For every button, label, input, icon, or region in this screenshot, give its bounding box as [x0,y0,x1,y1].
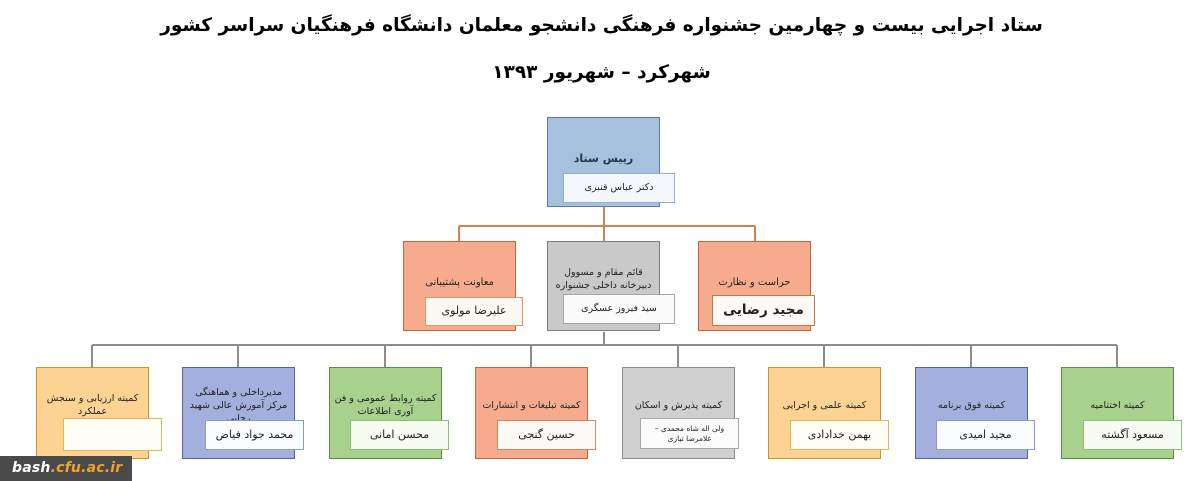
name-box-modir-dakheli[interactable]: محمد جواد فیاض [205,420,304,450]
node-title: قائم مقام و مسوول دبیرخانه داخلی جشنواره [552,267,655,293]
node-title: معاونت پشتیبانی [408,276,511,290]
node-title: کمیته پذیرش و اسکان [627,400,730,413]
node-title: کمیته ارزیابی و سنجش عملکرد [41,393,144,419]
person-name: محمد جواد فیاض [216,428,294,442]
name-box-ghaem-magham[interactable]: سید فیروز عسگری [563,294,675,324]
watermark-prefix: bash [12,460,51,476]
person-name: محسن امانی [370,428,429,442]
site-watermark: bash.cfu.ac.ir [0,456,132,481]
name-box-komite-ravabet-omumi[interactable]: محسن امانی [350,420,449,450]
watermark-suffix: .cfu.ac.ir [51,460,123,476]
person-name: علیرضا مولوی [442,304,507,318]
node-title: کمیته فوق برنامه [920,400,1023,413]
person-name: مجید رضایی [723,302,804,320]
name-box-raeis-setad[interactable]: دکتر عباس قنبری [563,173,675,203]
page-title: ستاد اجرایی بیست و چهارمین جشنواره فرهنگ… [0,14,1203,37]
name-box-herasat-nezarat[interactable]: مجید رضایی [712,295,815,326]
name-box-komite-paziresh[interactable]: ولی اله شاه محمدی – غلامرضا تیازی [640,418,739,449]
name-box-komite-elmi[interactable]: بهمن خدادادی [790,420,889,450]
person-name: بهمن خدادادی [808,428,871,442]
person-name: حسین گنجی [518,428,575,442]
person-name: مسعود آگشته [1101,428,1163,442]
person-name: دکتر عباس قنبری [585,182,654,194]
person-name: ولی اله شاه محمدی – غلامرضا تیازی [644,424,735,444]
node-title: کمیته تبلیغات و انتشارات [480,400,583,413]
name-box-komite-foghbarnameh[interactable]: مجید امیدی [936,420,1035,450]
person-name: سید فیروز عسگری [581,303,657,315]
name-box-moavenat-poshtibani[interactable]: علیرضا مولوی [425,297,523,326]
name-box-komite-ekhtetamieh[interactable]: مسعود آگشته [1083,420,1182,450]
node-title: کمیته روابط عمومی و فن آوری اطلاعات [334,393,437,419]
page-subtitle: شهرکرد – شهریور ۱۳۹۳ [0,62,1203,83]
node-title: حراست و نظارت [703,276,806,290]
name-box-komite-arzyabi[interactable] [63,418,162,451]
name-box-komite-tablighat[interactable]: حسین گنجی [497,420,596,450]
chart-header: ستاد اجرایی بیست و چهارمین جشنواره فرهنگ… [0,14,1203,37]
node-title: کمیته اختتامیه [1066,400,1169,413]
node-title: رییس ستاد [552,152,655,167]
org-chart-canvas: ستاد اجرایی بیست و چهارمین جشنواره فرهنگ… [0,0,1203,481]
node-title: کمیته علمی و اجرایی [773,400,876,413]
person-name: مجید امیدی [959,428,1011,442]
